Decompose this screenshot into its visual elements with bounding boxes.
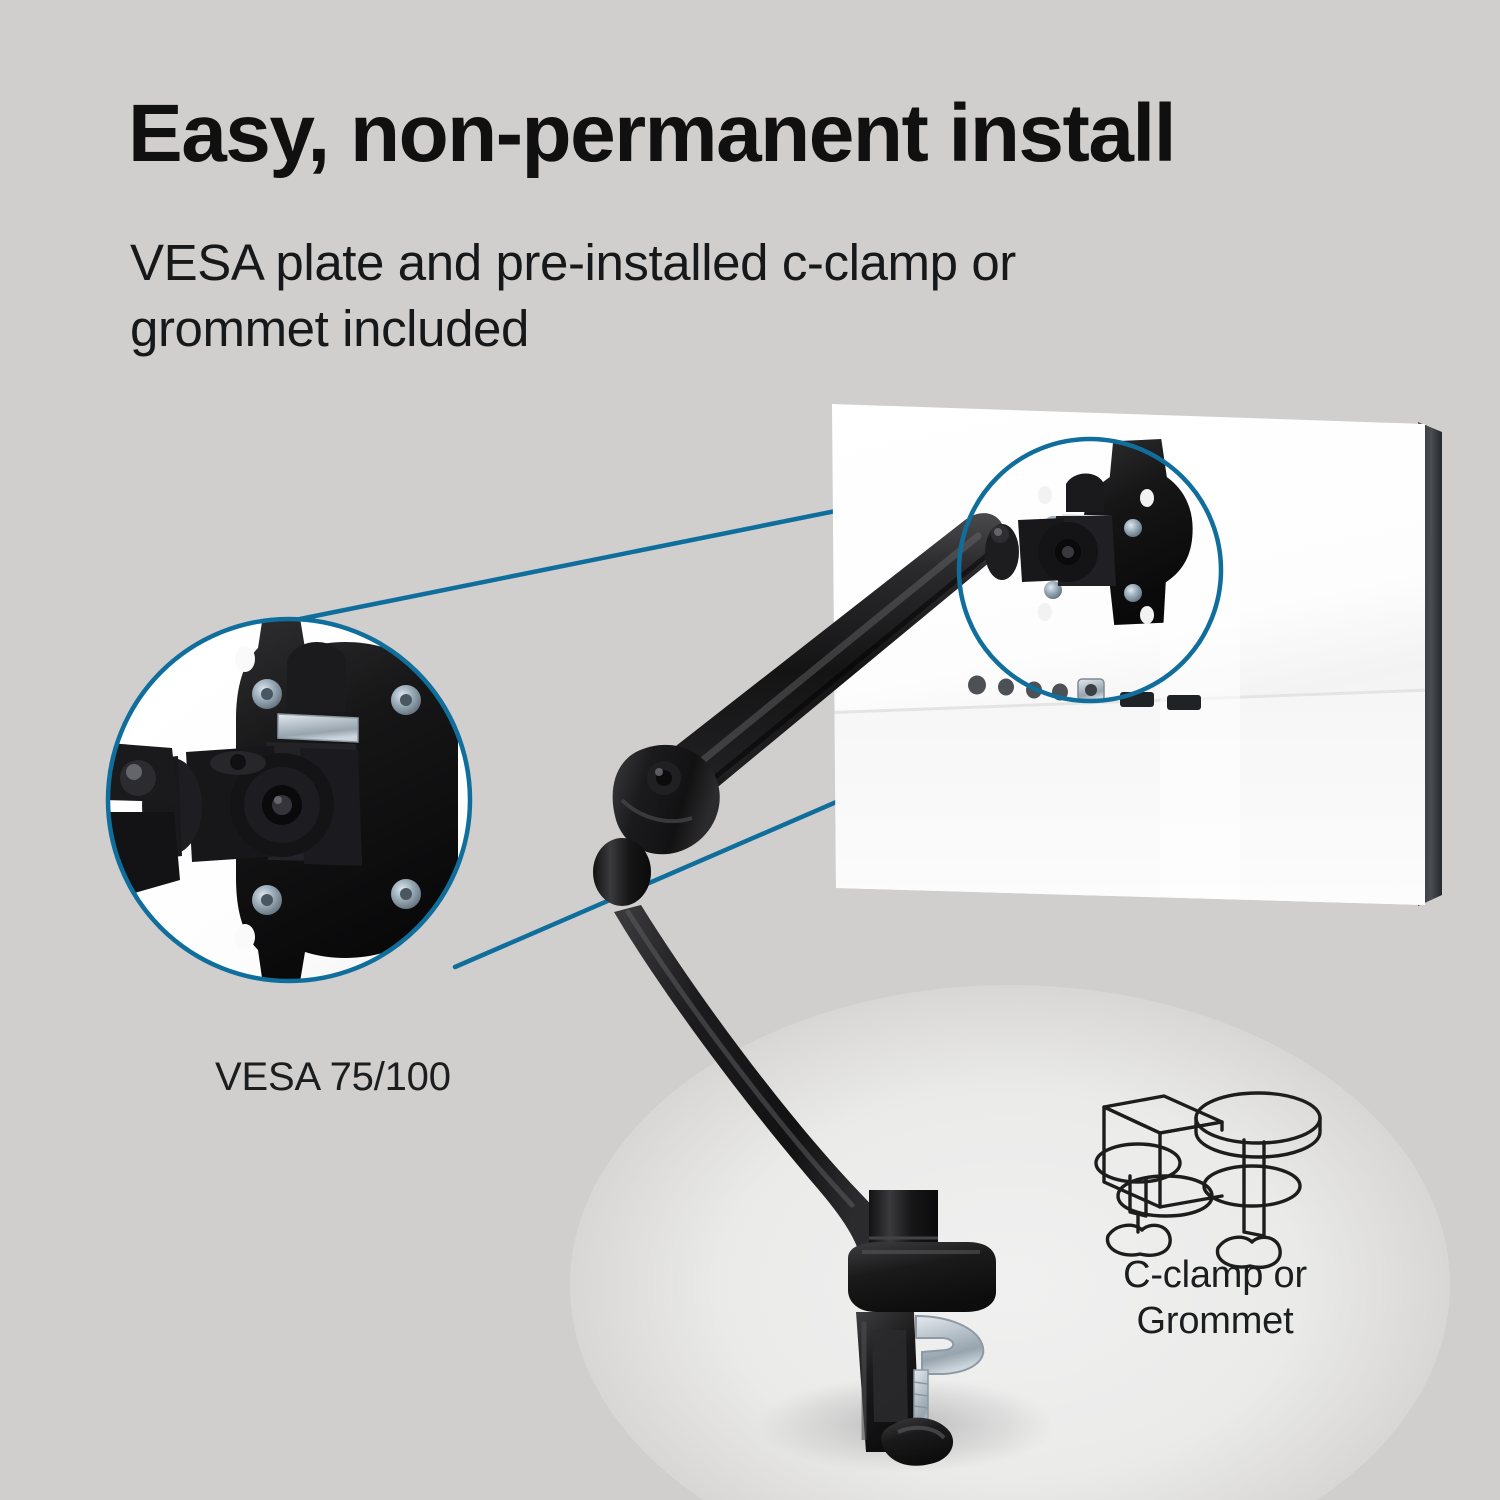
- osd-button[interactable]: [968, 676, 986, 695]
- vesa-caption: VESA 75/100: [215, 1055, 451, 1100]
- monitor-sheen: [1160, 404, 1240, 900]
- product-feature-image: Easy, non-permanent install VESA plate a…: [0, 0, 1500, 1500]
- clamp-caption: C-clamp or Grommet: [1040, 1253, 1390, 1344]
- osd-button[interactable]: [998, 679, 1014, 696]
- safety-latch: [1066, 474, 1104, 513]
- callout-circle-large: [96, 618, 470, 982]
- magnified-safety-latch: [287, 642, 346, 712]
- clamp-body-pad: [872, 1330, 908, 1422]
- tilt-swivel-joint: [985, 516, 1116, 586]
- magnified-latch-steel: [278, 714, 358, 742]
- monitor-lower-band: [820, 690, 1430, 910]
- clamp-caption-line-1: C-clamp or: [1040, 1253, 1390, 1299]
- clamp-caption-line-2: Grommet: [1040, 1299, 1390, 1345]
- power-jack: [1078, 679, 1104, 701]
- hdmi-port: [1167, 695, 1201, 710]
